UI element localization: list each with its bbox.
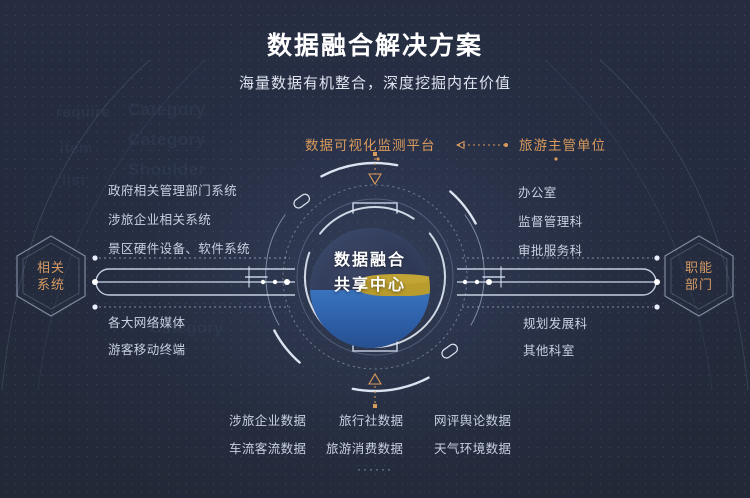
ghost-text: item bbox=[60, 140, 93, 157]
sphere-water-fill bbox=[310, 290, 430, 348]
bottom-item-2[interactable]: 网评舆论数据 bbox=[434, 410, 511, 429]
hexagon-right-line1: 职能 bbox=[685, 259, 713, 276]
page-title: 数据融合解决方案 bbox=[0, 26, 750, 62]
bottom-ellipsis: ······ bbox=[0, 462, 750, 476]
hexagon-left-line1: 相关 bbox=[37, 259, 65, 276]
label-visualization-platform[interactable]: 数据可视化监测平台 bbox=[305, 134, 436, 154]
right-item-3[interactable]: 规划发展科 bbox=[523, 313, 588, 332]
hexagon-right-label: 职能 部门 bbox=[662, 234, 736, 318]
label-tourism-authority[interactable]: 旅游主管单位 bbox=[519, 134, 606, 154]
right-item-4[interactable]: 其他科室 bbox=[523, 340, 575, 359]
ghost-text: require bbox=[56, 104, 110, 121]
bottom-item-5[interactable]: 天气环境数据 bbox=[434, 438, 511, 457]
left-item-1[interactable]: 涉旅企业相关系统 bbox=[108, 209, 211, 228]
sphere-label-line1: 数据融合 bbox=[310, 248, 430, 273]
bottom-item-3[interactable]: 车流客流数据 bbox=[229, 438, 306, 457]
ghost-text: list bbox=[62, 172, 86, 189]
hexagon-right-line2: 部门 bbox=[685, 276, 713, 293]
ghost-text: Category bbox=[128, 100, 206, 120]
hexagon-left-line2: 系统 bbox=[37, 276, 65, 293]
left-item-3[interactable]: 各大网络媒体 bbox=[108, 312, 185, 331]
left-item-2[interactable]: 景区硬件设备、软件系统 bbox=[108, 238, 250, 257]
bottom-item-4[interactable]: 旅游消费数据 bbox=[326, 438, 403, 457]
right-item-0[interactable]: 办公室 bbox=[518, 182, 557, 201]
left-item-4[interactable]: 游客移动终端 bbox=[108, 339, 185, 358]
right-item-2[interactable]: 审批服务科 bbox=[518, 240, 583, 259]
sphere-label-line2: 共享中心 bbox=[310, 273, 430, 298]
hexagon-left-label: 相关 系统 bbox=[14, 234, 88, 318]
right-item-1[interactable]: 监督管理科 bbox=[518, 211, 583, 230]
dotted-left-arrow-icon bbox=[448, 140, 510, 150]
ghost-text: Category bbox=[128, 130, 206, 150]
ghost-text: Shoulder bbox=[128, 160, 206, 180]
left-item-0[interactable]: 政府相关管理部门系统 bbox=[108, 180, 237, 199]
label-anchor-dot-right bbox=[552, 155, 560, 163]
infographic-canvas: Category Category Shoulder require item … bbox=[0, 0, 750, 498]
page-subtitle: 海量数据有机整合，深度挖掘内在价值 bbox=[0, 72, 750, 93]
bottom-item-1[interactable]: 旅行社数据 bbox=[339, 410, 404, 429]
bottom-item-0[interactable]: 涉旅企业数据 bbox=[229, 410, 306, 429]
sphere-label: 数据融合 共享中心 bbox=[310, 248, 430, 298]
